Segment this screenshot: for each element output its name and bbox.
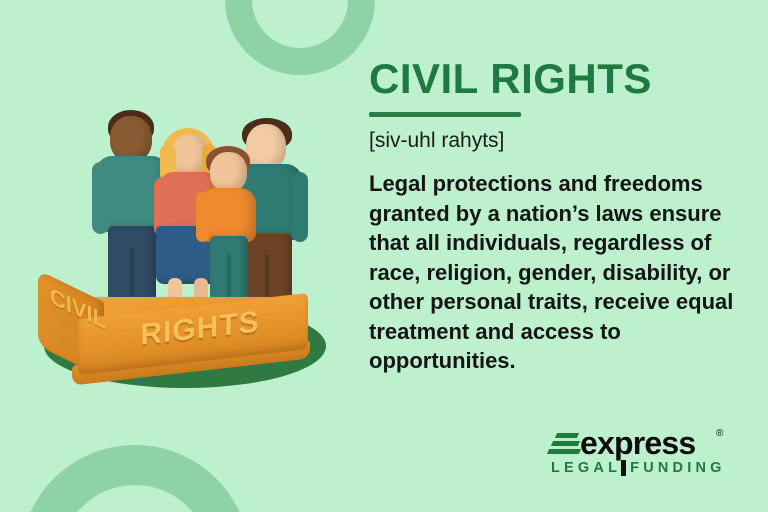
logo-subtitle-left: LEGAL — [551, 460, 621, 476]
registered-trademark-icon: ® — [716, 428, 723, 439]
head — [210, 152, 247, 192]
speed-bar-3 — [547, 449, 581, 454]
logo-subtitle: LEGAL FUNDING — [551, 460, 726, 476]
speed-bar-1 — [555, 433, 579, 438]
term-title: CIVIL RIGHTS — [369, 57, 739, 101]
phonetic-pronunciation: [siv-uhl rahyts] — [369, 128, 739, 153]
express-legal-funding-logo[interactable]: express ® LEGAL FUNDING — [548, 427, 728, 483]
decorative-ring-top — [225, 0, 375, 75]
logo-wordmark: express — [580, 425, 695, 462]
civil-rights-book: CIVIL RIGHTS — [32, 264, 332, 399]
definition-panel: CIVIL RIGHTS [siv-uhl rahyts] Legal prot… — [369, 57, 739, 376]
speed-bar-2 — [551, 441, 580, 446]
speed-bars-icon — [548, 433, 580, 455]
title-underline-rule — [369, 112, 521, 117]
decorative-ring-bottom — [20, 445, 250, 512]
logo-divider-bar — [621, 460, 626, 476]
arm-right — [292, 172, 308, 242]
civil-rights-illustration: CIVIL RIGHTS — [20, 96, 340, 406]
arm-left — [196, 192, 209, 242]
arm-left — [92, 162, 109, 234]
definition-text: Legal protections and freedoms granted b… — [369, 169, 737, 375]
logo-subtitle-right: FUNDING — [630, 460, 725, 476]
logo-wordmark-row: express ® — [548, 427, 728, 461]
